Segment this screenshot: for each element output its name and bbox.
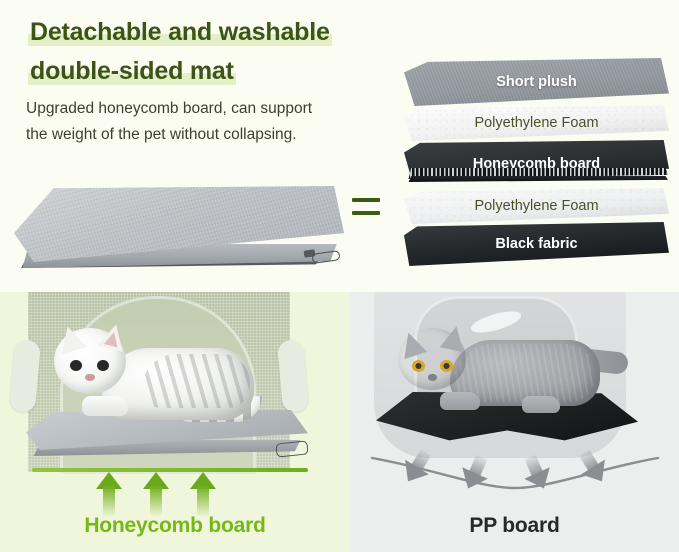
arrow-up-icon	[96, 472, 122, 516]
layer-label: Black fabric	[495, 236, 577, 252]
layer-polyethylene-foam-bottom: Polyethylene Foam	[404, 188, 669, 224]
layer-honeycomb-board: Honeycomb board	[404, 140, 669, 188]
infographic-page: Detachable and washable double-sided mat…	[0, 0, 679, 552]
honeycomb-bottom-edge	[406, 176, 668, 182]
equals-bar-top	[352, 198, 380, 202]
cat-ear-right	[440, 324, 468, 352]
comparison-label-left: Honeycomb board	[0, 514, 350, 538]
subtitle-line-2: the weight of the pet without collapsing…	[26, 127, 297, 143]
equals-bar-bottom	[352, 211, 380, 215]
cat-eye-right	[97, 360, 109, 371]
cat-ear-right	[97, 321, 128, 352]
comparison-label-right: PP board	[350, 514, 679, 538]
cat-nose	[85, 374, 95, 381]
layer-texture	[404, 188, 669, 224]
cat-gray	[394, 310, 622, 426]
title-highlight-1: Detachable and washable	[28, 18, 332, 46]
layer-slab: Black fabric	[404, 222, 669, 266]
layer-black-fabric: Black fabric	[404, 222, 669, 266]
layer-short-plush: Short plush	[404, 58, 669, 106]
layer-polyethylene-foam-top: Polyethylene Foam	[404, 105, 669, 141]
comparison-panel-right: PP board	[350, 292, 679, 552]
cat-head	[398, 328, 466, 390]
arrow-up-icon	[143, 472, 169, 516]
page-title-line-2: double-sided mat	[28, 59, 236, 84]
layer-texture	[404, 58, 669, 106]
arrow-up-icon	[190, 472, 216, 516]
cat-paw-rear	[522, 396, 560, 413]
cat-white-tabby	[54, 314, 264, 436]
top-section: Detachable and washable double-sided mat…	[0, 0, 679, 292]
comparison-section: Honeycomb board	[0, 292, 679, 552]
cat-paw	[82, 396, 128, 416]
cat-fur-stripes	[142, 354, 250, 408]
cat-eye-left	[70, 360, 82, 371]
arrow-shaft	[197, 486, 209, 516]
cat-eye-right	[440, 360, 453, 372]
layer-texture	[404, 105, 669, 141]
page-title-line-1: Detachable and washable	[28, 20, 332, 45]
comparison-panel-left: Honeycomb board	[0, 292, 350, 552]
arrow-shaft	[103, 486, 115, 516]
zipper-icon	[302, 246, 346, 268]
cat-ear-left	[397, 329, 427, 359]
cat-nose	[428, 374, 437, 381]
cat-ear-left	[55, 323, 87, 354]
zipper-icon	[275, 440, 308, 457]
title-highlight-2: double-sided mat	[28, 57, 236, 85]
cat-paw-front	[440, 392, 480, 410]
arrow-shaft	[150, 486, 162, 516]
zipper-pull	[311, 250, 340, 264]
subtitle-line-1: Upgraded honeycomb board, can support	[26, 101, 312, 117]
cat-head	[54, 328, 126, 394]
mat-product-photo	[14, 186, 344, 281]
layer-stack-diagram: Short plush Polyethylene Foam Honeycomb …	[404, 58, 669, 278]
cat-eye-left	[412, 360, 425, 372]
carrier-handle-right	[277, 339, 309, 413]
support-line-straight	[32, 468, 308, 472]
equals-icon	[352, 198, 380, 220]
